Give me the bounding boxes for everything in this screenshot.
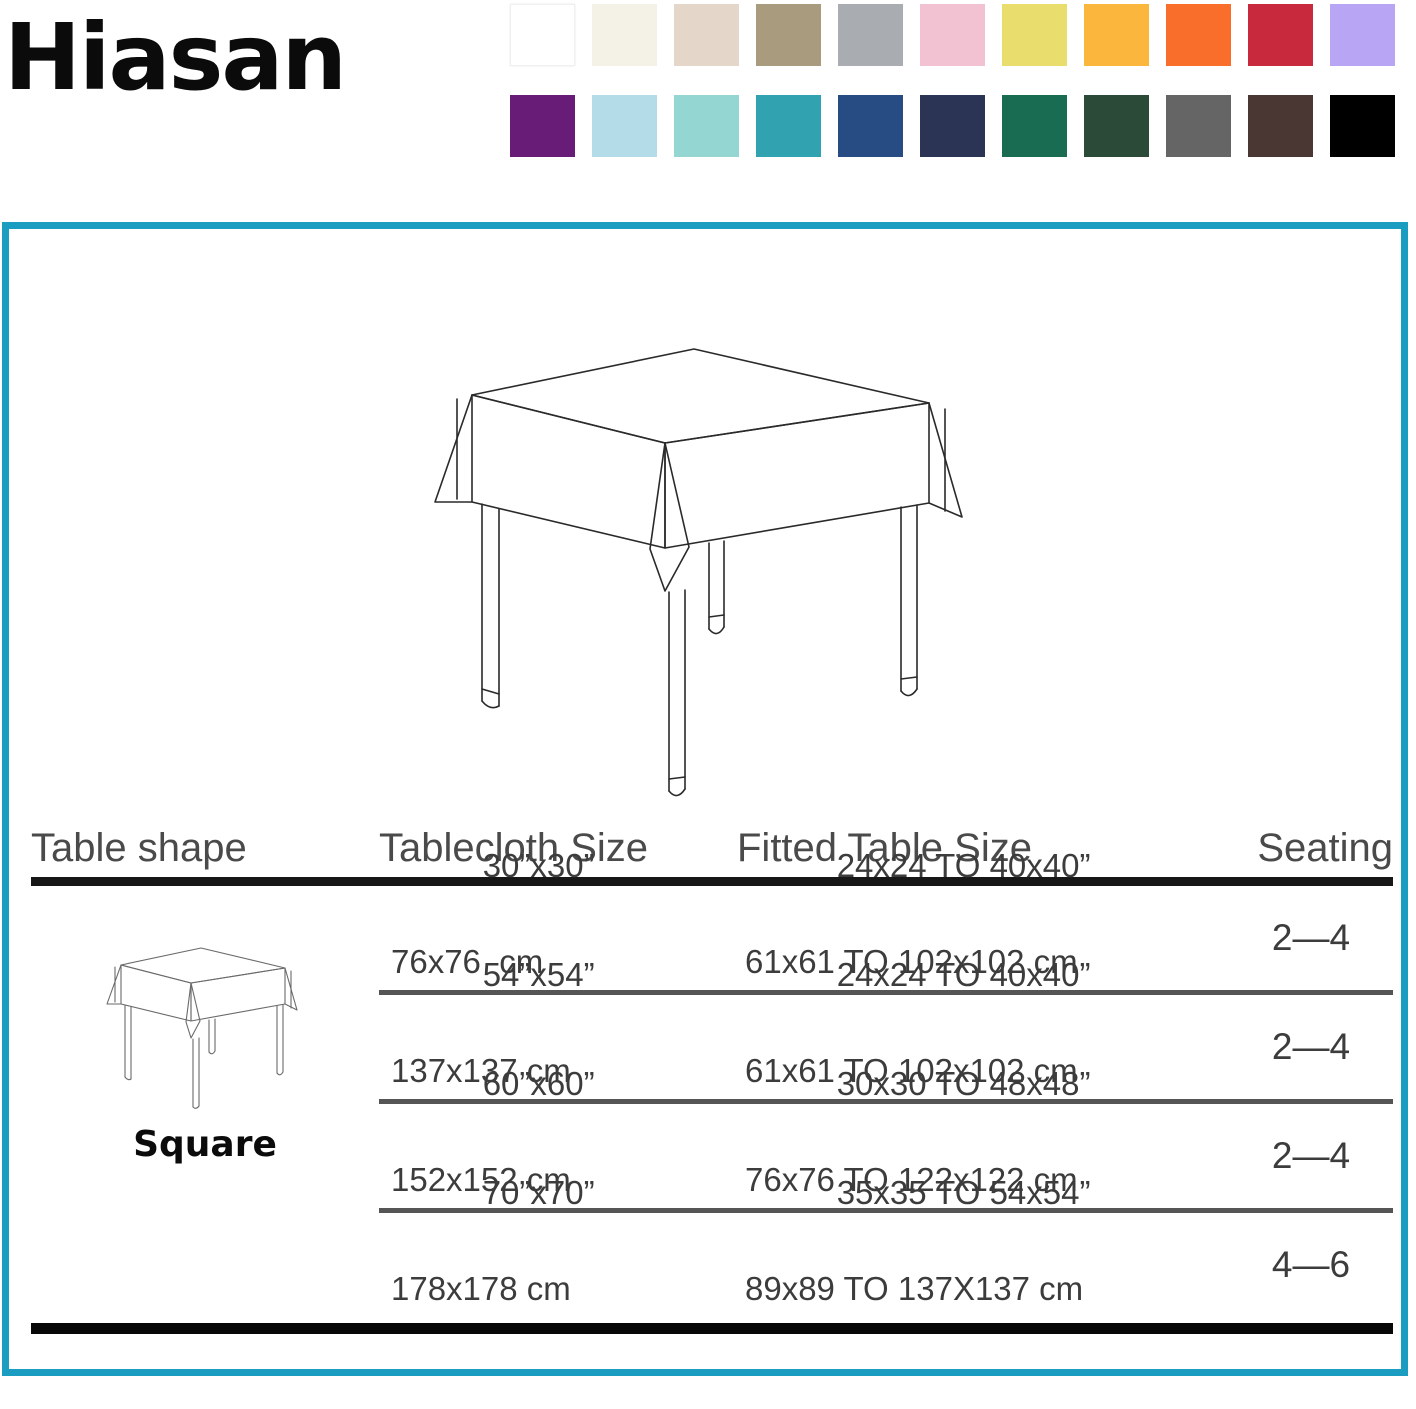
color-swatch-row-1 <box>510 4 1416 82</box>
cell-tablecloth-size: 70”x70” 178x178 cm <box>379 1121 737 1409</box>
color-swatch-white[interactable] <box>510 4 575 66</box>
cell-fitted-table-size: 35x35 TO 54x54” 89x89 TO 137X137 cm <box>737 1121 1229 1409</box>
cell-seating: 4—6 <box>1229 1244 1393 1286</box>
color-swatch-navy[interactable] <box>920 95 985 157</box>
color-swatch-taupe[interactable] <box>756 4 821 66</box>
fitted-size-inches: 30x30 TO 48x48” <box>837 1065 1091 1102</box>
color-swatch-amber[interactable] <box>1084 4 1149 66</box>
column-header-table-shape: Table shape <box>31 825 379 871</box>
fitted-size-inches: 24x24 TO 40x40” <box>837 847 1091 884</box>
cloth-size-inches: 60”x60” <box>483 1065 595 1102</box>
fitted-size-inches: 35x35 TO 54x54” <box>837 1174 1091 1211</box>
color-swatch-dark-gray[interactable] <box>1166 95 1231 157</box>
size-chart-panel: Table shape Tablecloth Size Fitted Table… <box>2 222 1408 1376</box>
table-shape-label: Square <box>31 1124 379 1165</box>
brand-logo: Hiasan <box>4 6 345 110</box>
cell-seating: 2—4 <box>1229 1026 1393 1068</box>
color-swatch-aqua[interactable] <box>674 95 739 157</box>
color-swatch-black[interactable] <box>1330 95 1395 157</box>
table-shape-cell: Square <box>31 942 379 1165</box>
color-swatch-lavender[interactable] <box>1330 4 1395 66</box>
cloth-size-inches: 30”x30” <box>483 847 595 884</box>
cloth-size-cm: 178x178 cm <box>391 1265 737 1313</box>
color-swatch-yellow[interactable] <box>1002 4 1067 66</box>
color-swatch-row-2 <box>510 95 1416 173</box>
color-swatch-pink[interactable] <box>920 4 985 66</box>
cloth-size-inches: 54”x54” <box>483 956 595 993</box>
color-swatch-steel-blue[interactable] <box>838 95 903 157</box>
color-swatch-brown[interactable] <box>1248 95 1313 157</box>
column-header-seating: Seating <box>1229 825 1393 871</box>
table-row: 70”x70” 178x178 cm 35x35 TO 54x54” 89x89… <box>31 1213 1393 1317</box>
size-table-body: Square 30”x30” 76x76 cm 24x24 TO 40x40” … <box>31 886 1393 1334</box>
cell-seating: 2—4 <box>1229 917 1393 959</box>
color-swatch-grid <box>510 4 1416 186</box>
color-swatch-teal[interactable] <box>756 95 821 157</box>
square-table-illustration <box>417 339 997 809</box>
fitted-size-cm: 89x89 TO 137X137 cm <box>745 1265 1229 1313</box>
fitted-size-inches: 24x24 TO 40x40” <box>837 956 1091 993</box>
color-swatch-orange[interactable] <box>1166 4 1231 66</box>
square-table-icon <box>99 942 311 1110</box>
cell-seating: 2—4 <box>1229 1135 1393 1177</box>
color-swatch-light-blue[interactable] <box>592 95 657 157</box>
color-swatch-ivory[interactable] <box>592 4 657 66</box>
color-swatch-purple[interactable] <box>510 95 575 157</box>
color-swatch-jade[interactable] <box>1002 95 1067 157</box>
color-swatch-forest-green[interactable] <box>1084 95 1149 157</box>
color-swatch-gray[interactable] <box>838 4 903 66</box>
size-table: Table shape Tablecloth Size Fitted Table… <box>31 809 1393 1334</box>
header-band: Hiasan <box>0 0 1416 200</box>
cloth-size-inches: 70”x70” <box>483 1174 595 1211</box>
color-swatch-beige[interactable] <box>674 4 739 66</box>
color-swatch-red[interactable] <box>1248 4 1313 66</box>
